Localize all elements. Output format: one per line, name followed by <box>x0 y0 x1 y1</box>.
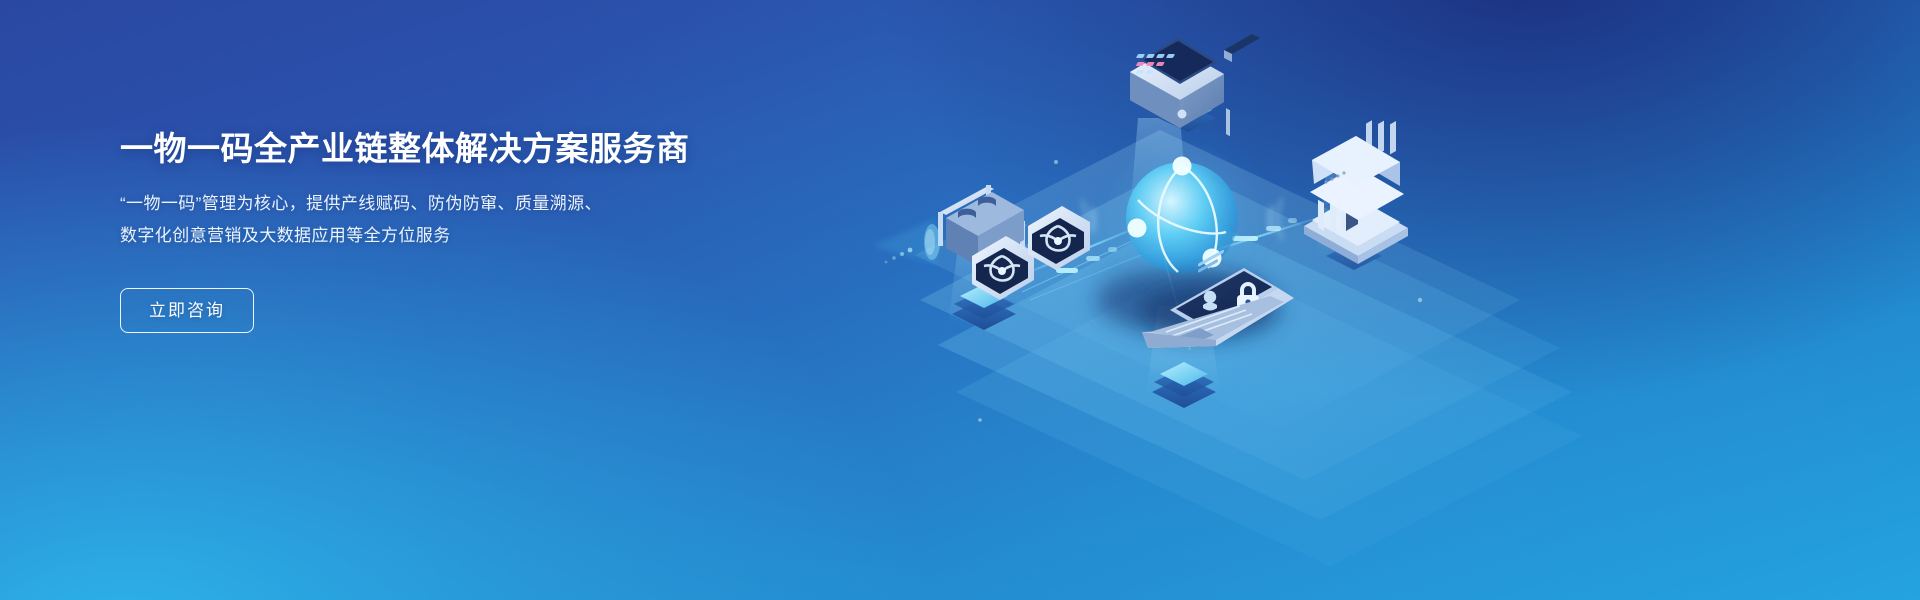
hero-banner: 一物一码全产业链整体解决方案服务商 “一物一码”管理为核心，提供产线赋码、防伪防… <box>0 0 1920 600</box>
page-title: 一物一码全产业链整体解决方案服务商 <box>120 128 760 170</box>
cta-container: 立即咨询 <box>120 252 760 333</box>
isometric-scene-svg <box>860 0 1920 600</box>
hero-illustration <box>860 0 1920 600</box>
subtitle-line-1: “一物一码”管理为核心，提供产线赋码、防伪防窜、质量溯源、 <box>120 188 760 220</box>
hero-subtitle: “一物一码”管理为核心，提供产线赋码、防伪防窜、质量溯源、 数字化创意营销及大数… <box>120 170 760 252</box>
consult-now-button[interactable]: 立即咨询 <box>120 288 254 333</box>
bank-icon <box>1304 120 1408 264</box>
subtitle-line-2: 数字化创意营销及大数据应用等全方位服务 <box>120 220 760 252</box>
hero-content: 一物一码全产业链整体解决方案服务商 “一物一码”管理为核心，提供产线赋码、防伪防… <box>120 128 760 333</box>
